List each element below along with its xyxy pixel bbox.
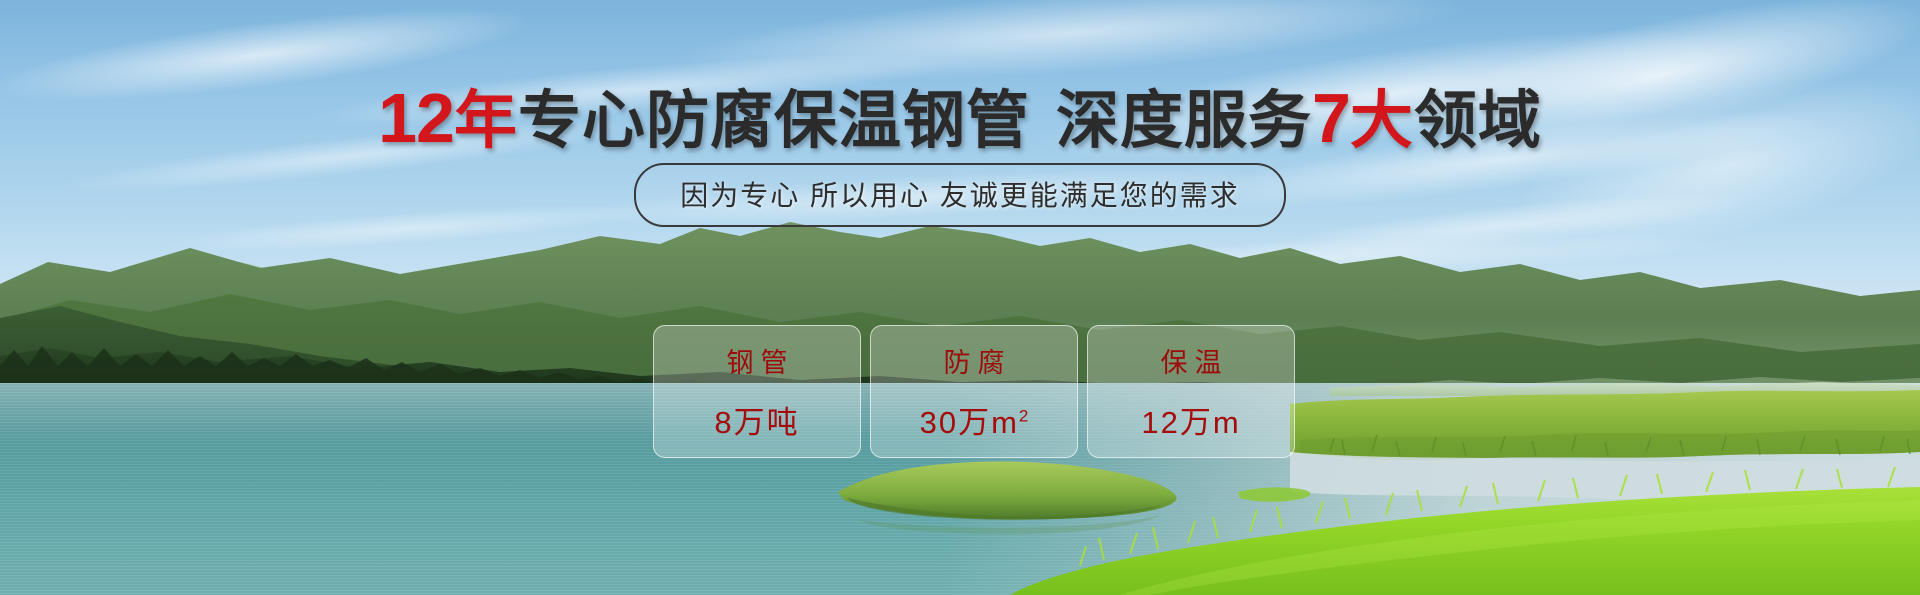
- headline-years-unit: 年: [454, 86, 518, 156]
- headline-main-text: 专心防腐保温钢管: [518, 86, 1030, 156]
- stats-card-group: 钢管 8万吨 防腐 30万m2 保温 12万m: [653, 325, 1295, 458]
- stat-card-value-text: 30万m: [920, 405, 1019, 440]
- stat-card-value: 8万吨: [714, 397, 799, 442]
- subtitle-pill: 因为专心 所以用心 友诚更能满足您的需求: [634, 163, 1286, 227]
- stat-card-value-sup: 2: [1019, 407, 1028, 426]
- page-title: 12年专心防腐保温钢管深度服务7大领域: [0, 83, 1920, 153]
- hero-banner: 12年专心防腐保温钢管深度服务7大领域 因为专心 所以用心 友诚更能满足您的需求…: [0, 0, 1920, 595]
- stat-card-insulation[interactable]: 保温 12万m: [1087, 325, 1295, 458]
- stat-card-steel-pipe[interactable]: 钢管 8万吨: [653, 325, 861, 458]
- headline-fields-number: 7: [1312, 79, 1350, 157]
- stat-card-anticorrosion[interactable]: 防腐 30万m2: [870, 325, 1078, 458]
- stat-card-value: 30万m2: [920, 397, 1029, 442]
- headline-fields-text: 领域: [1414, 86, 1542, 156]
- subtitle-container: 因为专心 所以用心 友诚更能满足您的需求: [0, 163, 1920, 227]
- stat-card-label: 保温: [1154, 341, 1229, 380]
- stat-card-value: 12万m: [1141, 397, 1240, 442]
- headline-fields-da: 大: [1350, 86, 1414, 156]
- stat-card-label: 防腐: [937, 341, 1012, 380]
- headline-service-text: 深度服务: [1056, 86, 1312, 156]
- headline-years-number: 12: [378, 79, 454, 157]
- stat-card-label: 钢管: [720, 341, 795, 380]
